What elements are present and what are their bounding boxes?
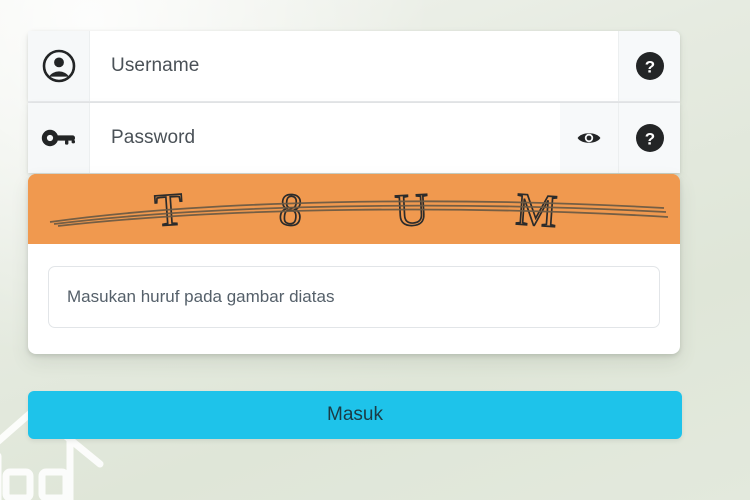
username-field-row[interactable]: Username ? <box>28 31 680 101</box>
username-input[interactable]: Username <box>90 31 618 101</box>
password-input-value: Password <box>111 127 195 149</box>
captcha-char-1: 8 <box>277 183 304 236</box>
svg-text:?: ? <box>644 130 654 149</box>
user-circle-icon <box>42 49 76 83</box>
toggle-password-visibility-button[interactable] <box>560 103 618 173</box>
username-input-value: Username <box>111 55 199 77</box>
captcha-image[interactable]: T 8 U M <box>28 174 680 244</box>
captcha-card: T 8 U M Masukan huruf pada gambar diatas <box>28 174 680 354</box>
password-field-row[interactable]: Password ? <box>28 103 680 173</box>
key-icon <box>41 126 77 150</box>
captcha-input[interactable]: Masukan huruf pada gambar diatas <box>48 266 660 328</box>
captcha-challenge-graphic: T 8 U M <box>28 174 680 244</box>
svg-text:?: ? <box>644 58 654 77</box>
captcha-input-placeholder: Masukan huruf pada gambar diatas <box>67 287 334 307</box>
eye-icon <box>576 129 602 147</box>
user-icon-cell <box>28 31 90 101</box>
username-help-button[interactable]: ? <box>618 31 680 101</box>
key-icon-cell <box>28 103 90 173</box>
help-question-icon: ? <box>635 51 665 81</box>
help-question-icon: ? <box>635 123 665 153</box>
login-screen: Username ? Password <box>0 0 750 500</box>
submit-button[interactable]: Masuk <box>28 391 682 439</box>
password-help-button[interactable]: ? <box>618 103 680 173</box>
password-input[interactable]: Password <box>90 103 560 173</box>
